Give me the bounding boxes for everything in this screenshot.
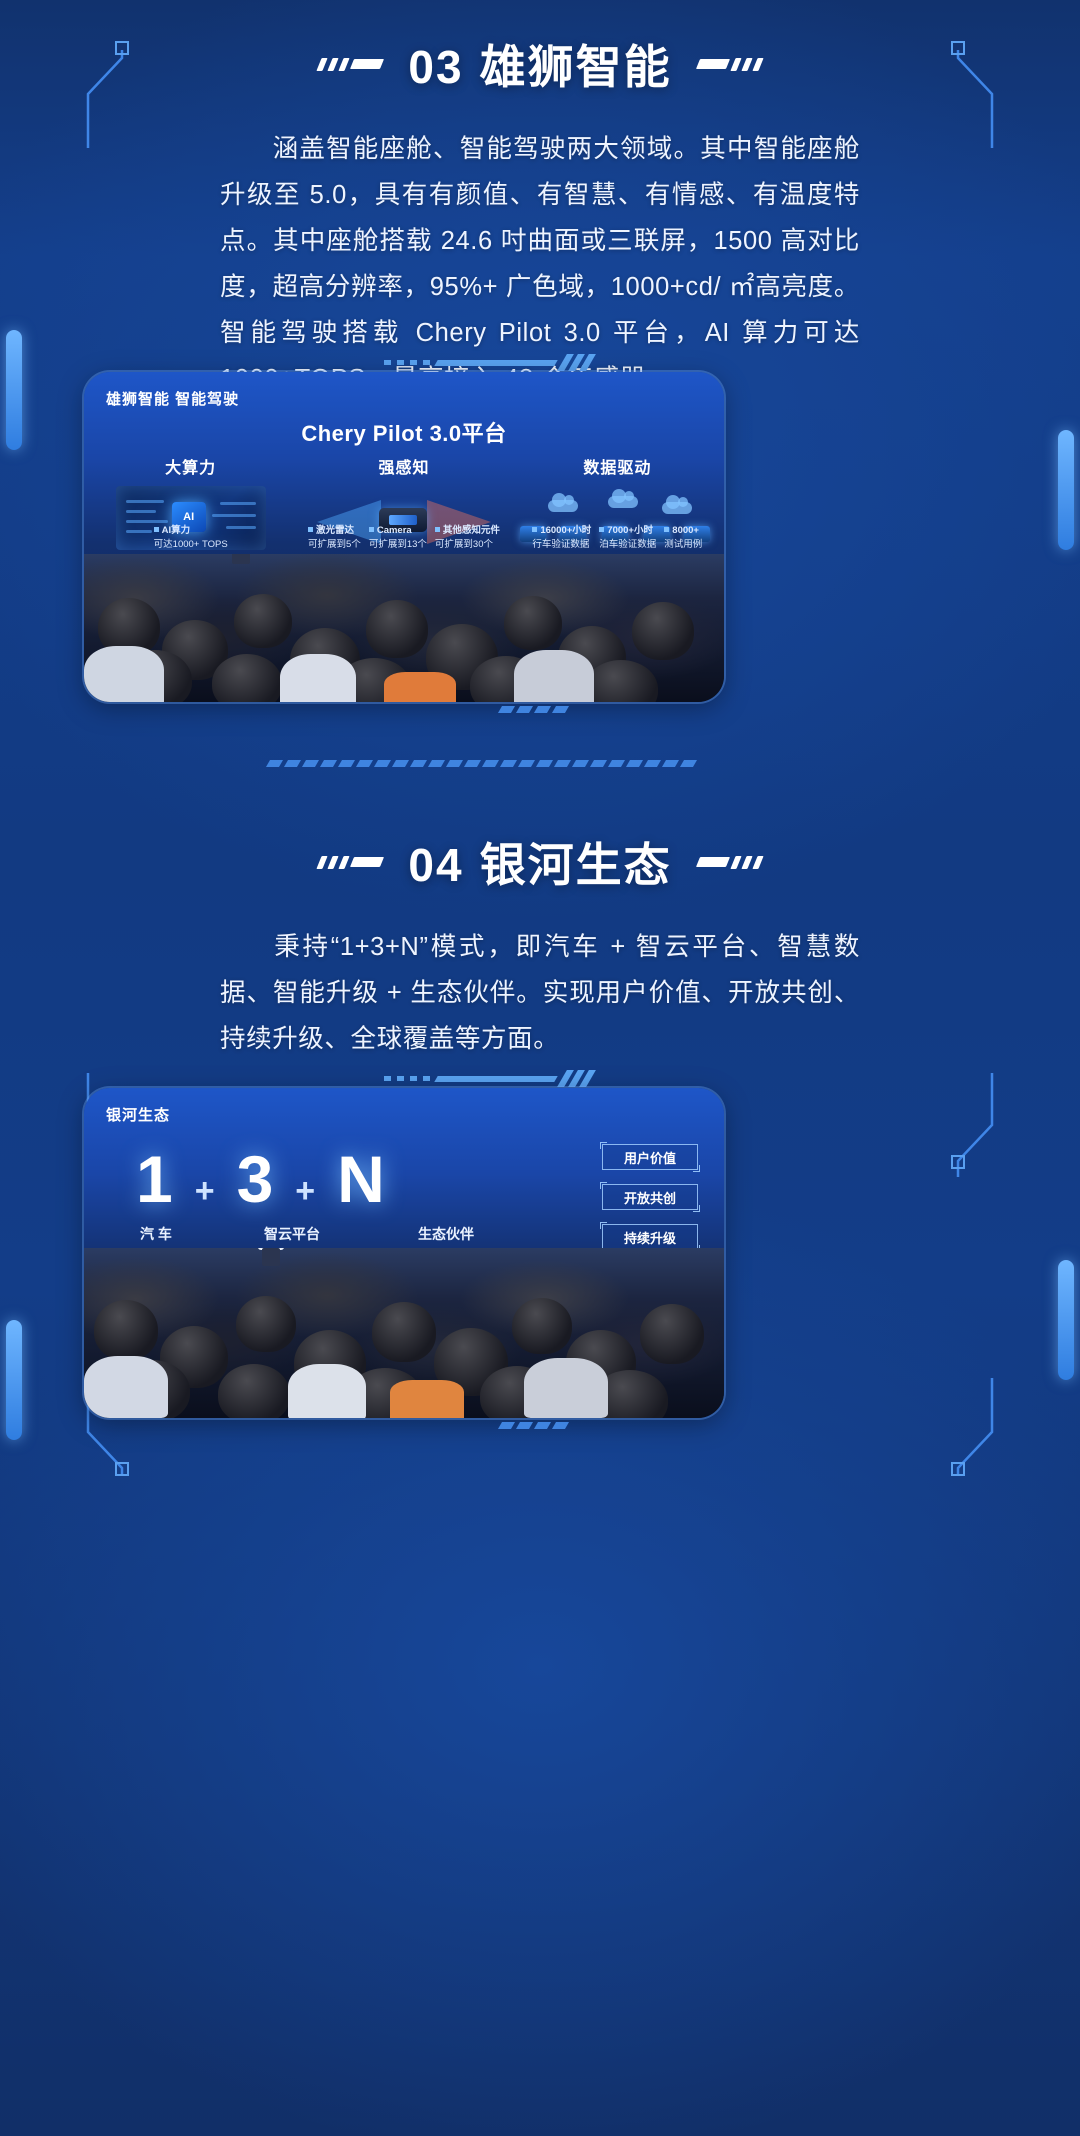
caption-line1: 16000+小时 — [540, 525, 591, 536]
equation-label-cloud: 智云平台 — [264, 1224, 320, 1244]
edge-tab-left-bottom — [6, 1320, 22, 1440]
slide-04-under-dashes — [500, 1422, 567, 1429]
equation-value-n: N — [337, 1146, 385, 1212]
slide-03-brand: 雄狮智能 智能驾驶 — [106, 388, 239, 409]
section-03: 03雄狮智能 涵盖智能座舱、智能驾驶两大领域。其中智能座舱升级至 5.0，具有有… — [0, 22, 1080, 402]
poster-page: 03雄狮智能 涵盖智能座舱、智能驾驶两大领域。其中智能座舱升级至 5.0，具有有… — [0, 0, 1080, 2136]
caption-line2: 行车验证数据 — [532, 539, 589, 550]
section-03-header: 03雄狮智能 — [0, 22, 1080, 106]
slide-04-brand: 银河生态 — [106, 1104, 170, 1125]
corner-square-left-bottom — [115, 1462, 129, 1476]
caption-line2: 可扩展到5个 — [308, 539, 361, 550]
equation-operator-1: + — [195, 1174, 215, 1208]
section-03-number: 03 — [408, 41, 463, 93]
caption-item: 16000+小时 行车验证数据 — [532, 524, 591, 552]
slide-03-under-dashes — [500, 706, 567, 713]
caption-line2: 测试用例 — [664, 539, 702, 550]
slide-03-card: 雄狮智能 智能驾驶 Chery Pilot 3.0平台 大算力 AI — [84, 372, 724, 702]
slide-03-captions: AI算力 可达1000+ TOPS 激光雷达 可扩展到5个 Camera 可扩展… — [84, 524, 724, 552]
section-03-title-text: 雄狮智能 — [480, 41, 672, 93]
column-heading-perception: 强感知 — [297, 454, 510, 478]
caption-line2: 可扩展到13个 — [369, 539, 427, 550]
edge-tab-right-top — [1058, 430, 1074, 550]
header-dashes-right-icon — [698, 49, 761, 79]
caption-line1: 8000+ — [672, 525, 699, 536]
slide-04-wrapper: 银河生态 1 + 3 + N 汽 车 智云平台 智慧数据 智能升级 生态伙伴 用… — [84, 1088, 724, 1418]
caption-item: AI算力 可达1000+ TOPS — [154, 524, 228, 552]
slide-03-title: Chery Pilot 3.0平台 — [84, 416, 724, 448]
caption-item: 7000+小时 泊车验证数据 — [599, 524, 656, 552]
divider-dashes-mid — [268, 760, 695, 767]
tag-user-value: 用户价值 — [602, 1144, 698, 1170]
audience-photo-2 — [84, 1248, 724, 1418]
edge-tab-right-bottom — [1058, 1260, 1074, 1380]
equation-operator-2: + — [295, 1174, 315, 1208]
header-dashes-right-icon-2 — [698, 847, 761, 877]
speaker-figure-2 — [254, 1248, 288, 1266]
equation-label-partners: 生态伙伴 — [418, 1224, 474, 1244]
caption-group-data: 16000+小时 行车验证数据 7000+小时 泊车验证数据 8000+ 测试用… — [511, 524, 724, 552]
header-dashes-left-icon — [319, 49, 382, 79]
caption-line2: 泊车验证数据 — [599, 539, 656, 550]
caption-item: Camera 可扩展到13个 — [369, 524, 427, 552]
caption-item: 8000+ 测试用例 — [664, 524, 702, 552]
corner-square-right-top-2 — [951, 1155, 965, 1169]
caption-line1: Camera — [377, 525, 412, 536]
equation-label-car: 汽 车 — [140, 1224, 172, 1244]
slide-04-notch-decor — [384, 1070, 591, 1087]
tag-continuous-upgrade: 持续升级 — [602, 1224, 698, 1250]
caption-line1: 激光雷达 — [316, 525, 354, 536]
section-03-title: 03雄狮智能 — [408, 31, 671, 97]
caption-item: 其他感知元件 可扩展到30个 — [435, 524, 500, 552]
ecosystem-equation: 1 + 3 + N — [136, 1146, 385, 1212]
section-04-header: 04银河生态 — [0, 820, 1080, 904]
column-heading-data: 数据驱动 — [511, 454, 724, 478]
caption-group-compute: AI算力 可达1000+ TOPS — [84, 524, 297, 552]
slide-04-card: 银河生态 1 + 3 + N 汽 车 智云平台 智慧数据 智能升级 生态伙伴 用… — [84, 1088, 724, 1418]
section-04-number: 04 — [408, 839, 463, 891]
caption-line2: 可达1000+ TOPS — [154, 539, 228, 550]
caption-line1: AI算力 — [162, 525, 191, 536]
section-04: 04银河生态 秉持“1+3+N”模式，即汽车 + 智云平台、智慧数据、智能升级 … — [0, 820, 1080, 1062]
section-04-title: 04银河生态 — [408, 829, 671, 895]
caption-line1: 其他感知元件 — [443, 525, 500, 536]
caption-item: 激光雷达 可扩展到5个 — [308, 524, 361, 552]
section-04-paragraph-text: 秉持“1+3+N”模式，即汽车 + 智云平台、智慧数据、智能升级 + 生态伙伴。… — [220, 933, 860, 1053]
caption-group-perception: 激光雷达 可扩展到5个 Camera 可扩展到13个 其他感知元件 可扩展到30… — [297, 524, 510, 552]
corner-square-right-bottom — [951, 1462, 965, 1476]
slide-03-wrapper: 雄狮智能 智能驾驶 Chery Pilot 3.0平台 大算力 AI — [84, 372, 724, 702]
slide-03-notch-decor — [384, 354, 591, 371]
column-heading-compute: 大算力 — [84, 454, 297, 478]
section-04-title-text: 银河生态 — [480, 839, 672, 891]
header-dashes-left-icon-2 — [319, 847, 382, 877]
speaker-figure — [224, 554, 258, 564]
tag-open-innovation: 开放共创 — [602, 1184, 698, 1210]
equation-value-1: 1 — [136, 1146, 173, 1212]
equation-value-3: 3 — [237, 1146, 274, 1212]
section-04-paragraph: 秉持“1+3+N”模式，即汽车 + 智云平台、智慧数据、智能升级 + 生态伙伴。… — [220, 924, 860, 1062]
audience-photo — [84, 554, 724, 702]
caption-line1: 7000+小时 — [607, 525, 653, 536]
caption-line2: 可扩展到30个 — [435, 539, 493, 550]
